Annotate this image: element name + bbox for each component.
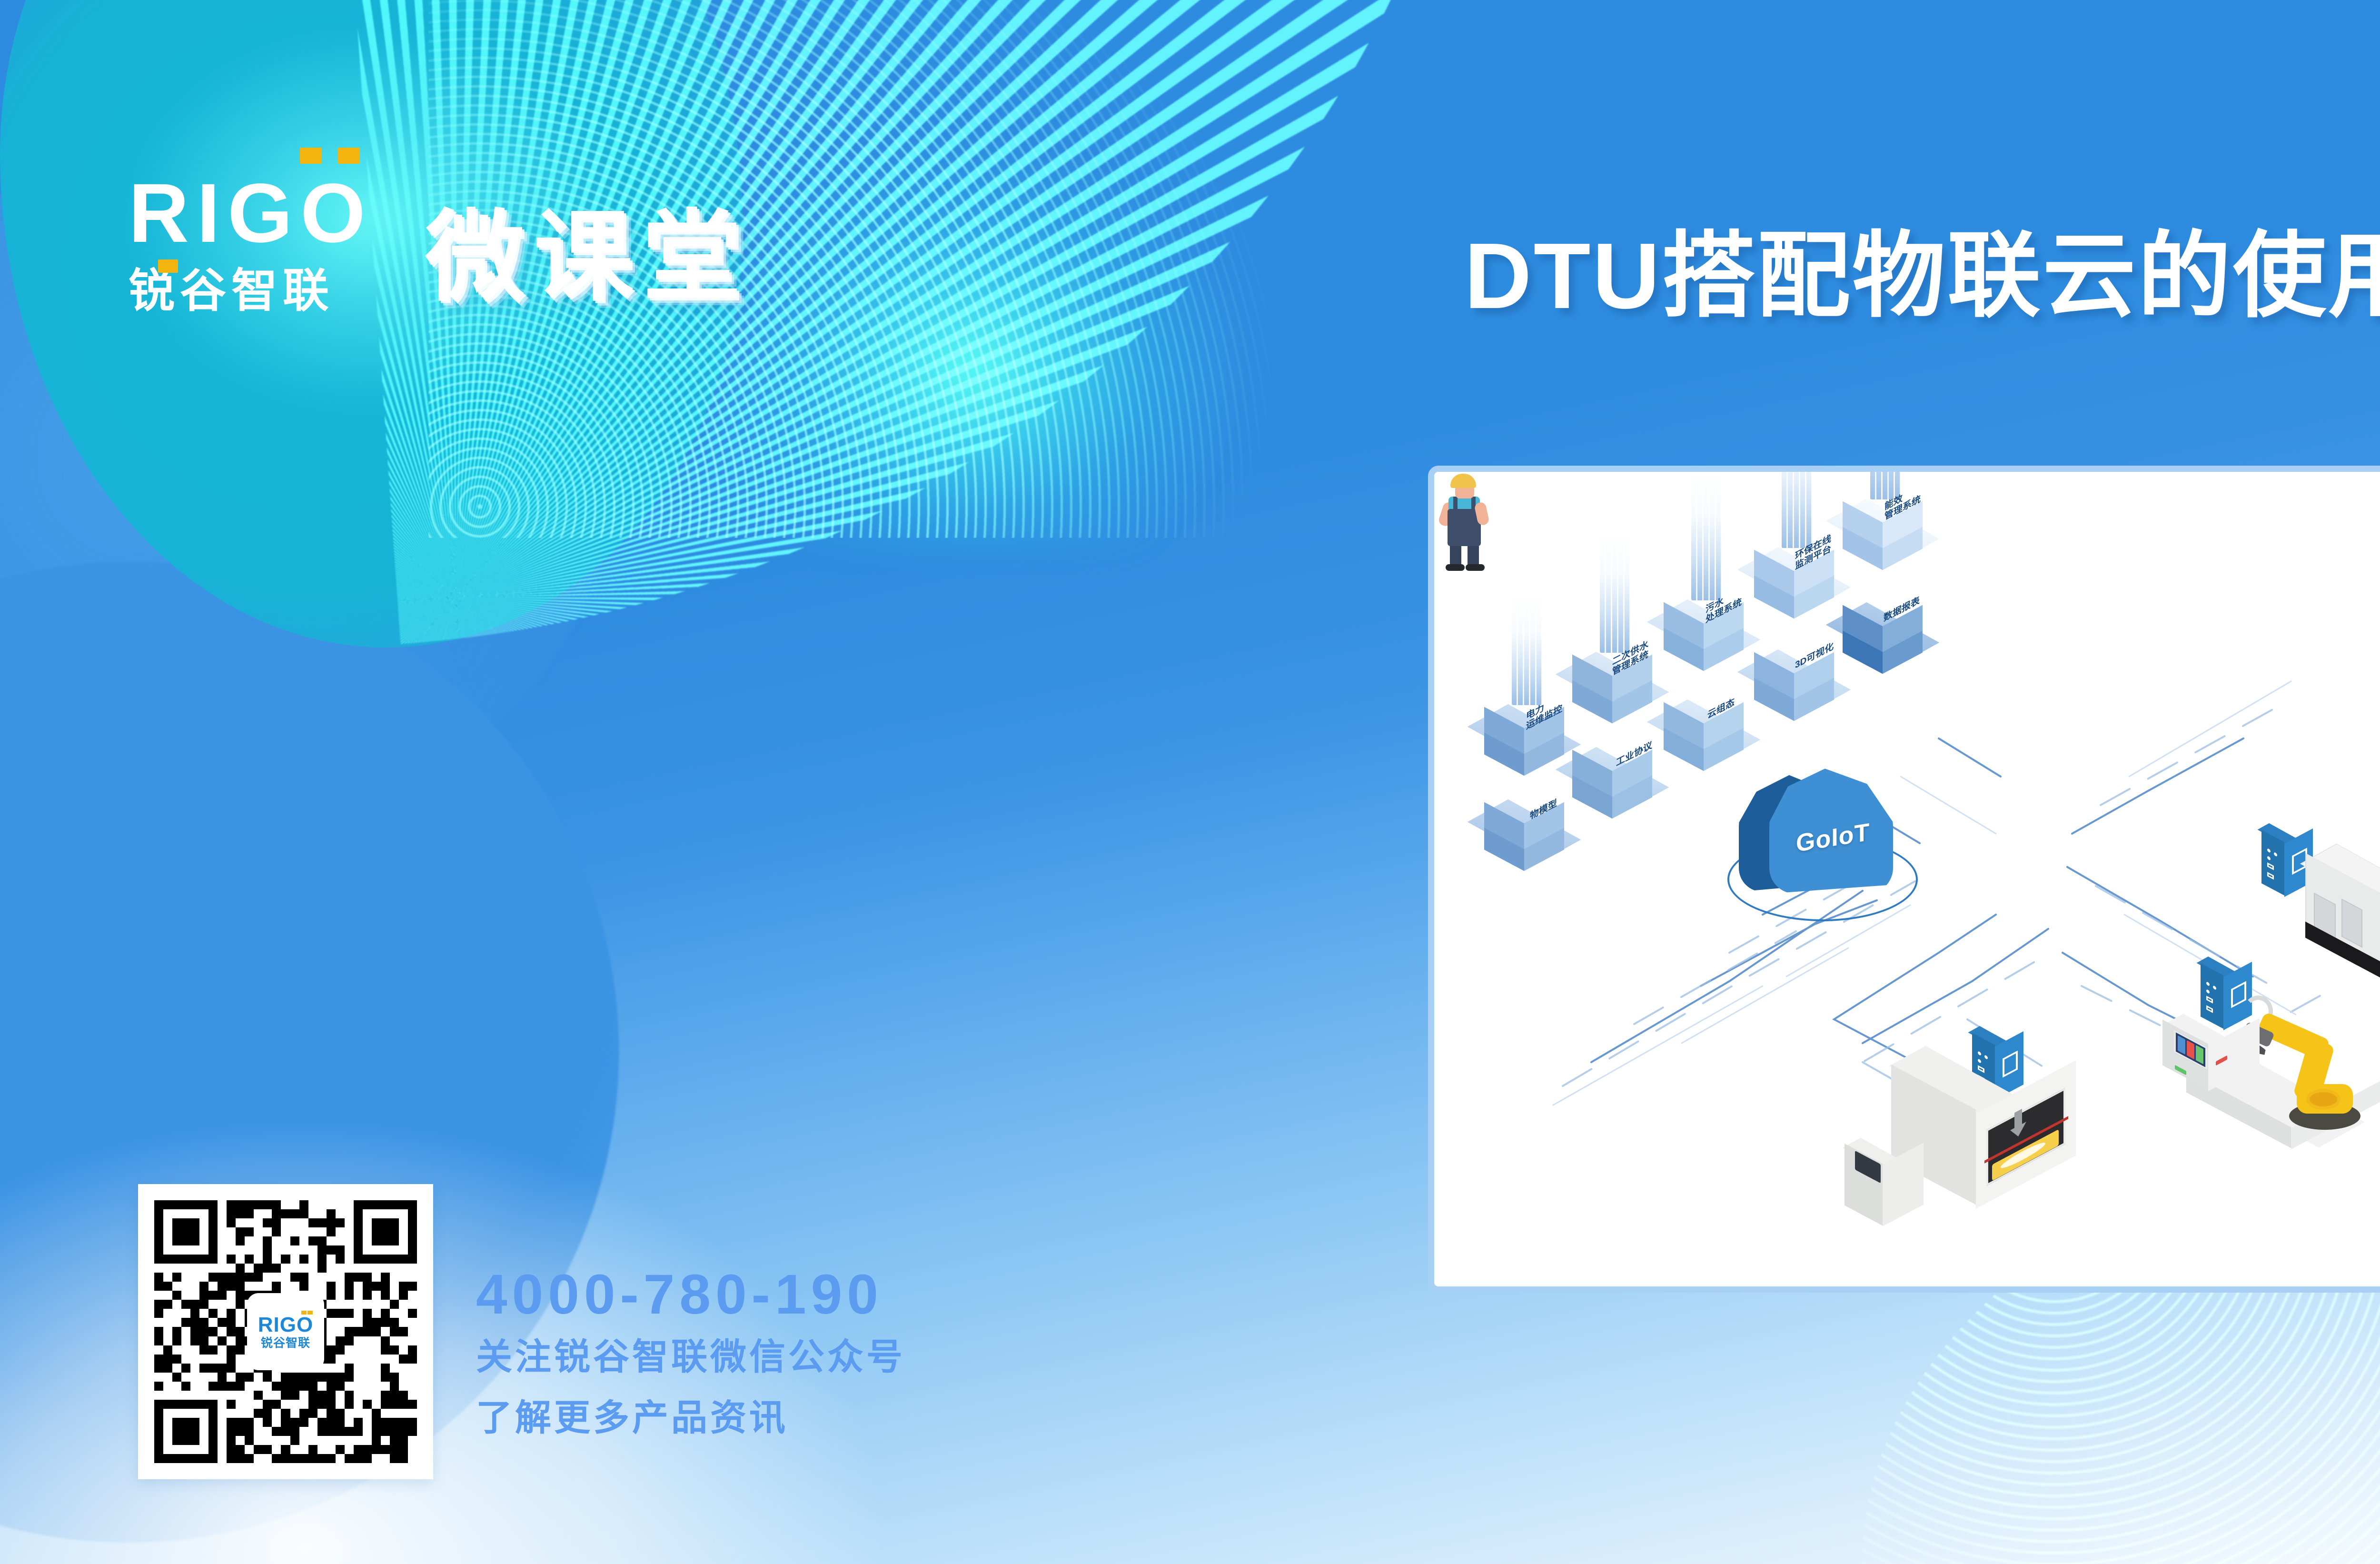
program-title: 微课堂 (426, 208, 751, 314)
console-right-face (2208, 1018, 2260, 1091)
qr-umlaut-dot-icon (301, 1311, 307, 1315)
light-beam (1512, 596, 1542, 705)
robot-joint-icon (2306, 1089, 2340, 1110)
light-beam (1600, 534, 1630, 653)
product-info-line: 了解更多产品资讯 (476, 1392, 905, 1444)
console-screen-tile (2196, 1045, 2203, 1065)
wechat-qr-card[interactable]: RIGO 锐谷智联 (138, 1184, 433, 1479)
light-beam (1782, 466, 1812, 548)
illustration-canvas: 电力 运维监控 物模型 (1434, 472, 2380, 1286)
rigo-wordmark: RIGO (129, 171, 373, 255)
umlaut-dot-left-icon (300, 148, 322, 164)
page-title-episode: （二） (1329, 339, 2380, 396)
console-screen-tile (2178, 1036, 2185, 1055)
wechat-follow-line: 关注锐谷智联微信公众号 (476, 1331, 905, 1384)
illustration-panel: 电力 运维监控 物模型 (1428, 466, 2380, 1293)
qr-logo-chinese: 锐谷智联 (261, 1337, 310, 1349)
page-title: DTU搭配物联云的使用方法 （二） (1329, 224, 2380, 395)
light-beam (1870, 466, 1901, 499)
cloud-label: GoIoT (1796, 818, 1870, 858)
console-screen-tile (2187, 1040, 2194, 1060)
worker-right-shoe (1466, 564, 1485, 571)
rigo-logo: RIGO 锐谷智联 (129, 171, 373, 314)
umlaut-dot-right-icon (338, 148, 360, 164)
qr-umlaut-dot-icon (307, 1311, 313, 1315)
qr-logo-wordmark: RIGO (258, 1315, 313, 1335)
rigo-chinese-name: 锐谷智联 (129, 268, 373, 314)
qr-center-logo: RIGO 锐谷智联 (250, 1296, 321, 1367)
light-beam (1691, 472, 1722, 600)
iot-cloud: GoIoT (1725, 753, 1924, 929)
worker-terminal (1844, 1138, 1930, 1234)
worker-left-shoe (1446, 564, 1465, 571)
hmi-console (2162, 1015, 2286, 1124)
container-cabinet (2305, 848, 2380, 981)
hotline-number[interactable]: 4000-780-190 (476, 1266, 905, 1323)
contact-block: 4000-780-190 关注锐谷智联微信公众号 了解更多产品资讯 (476, 1266, 905, 1444)
rigo-wordmark-text: RIGO (129, 167, 373, 260)
brand-header: RIGO 锐谷智联 微课堂 (129, 171, 751, 314)
page-title-main: DTU搭配物联云的使用方法 (1329, 224, 2380, 329)
accent-dot-icon (158, 259, 178, 273)
qr-logo-wordmark-text: RIGO (258, 1313, 313, 1336)
